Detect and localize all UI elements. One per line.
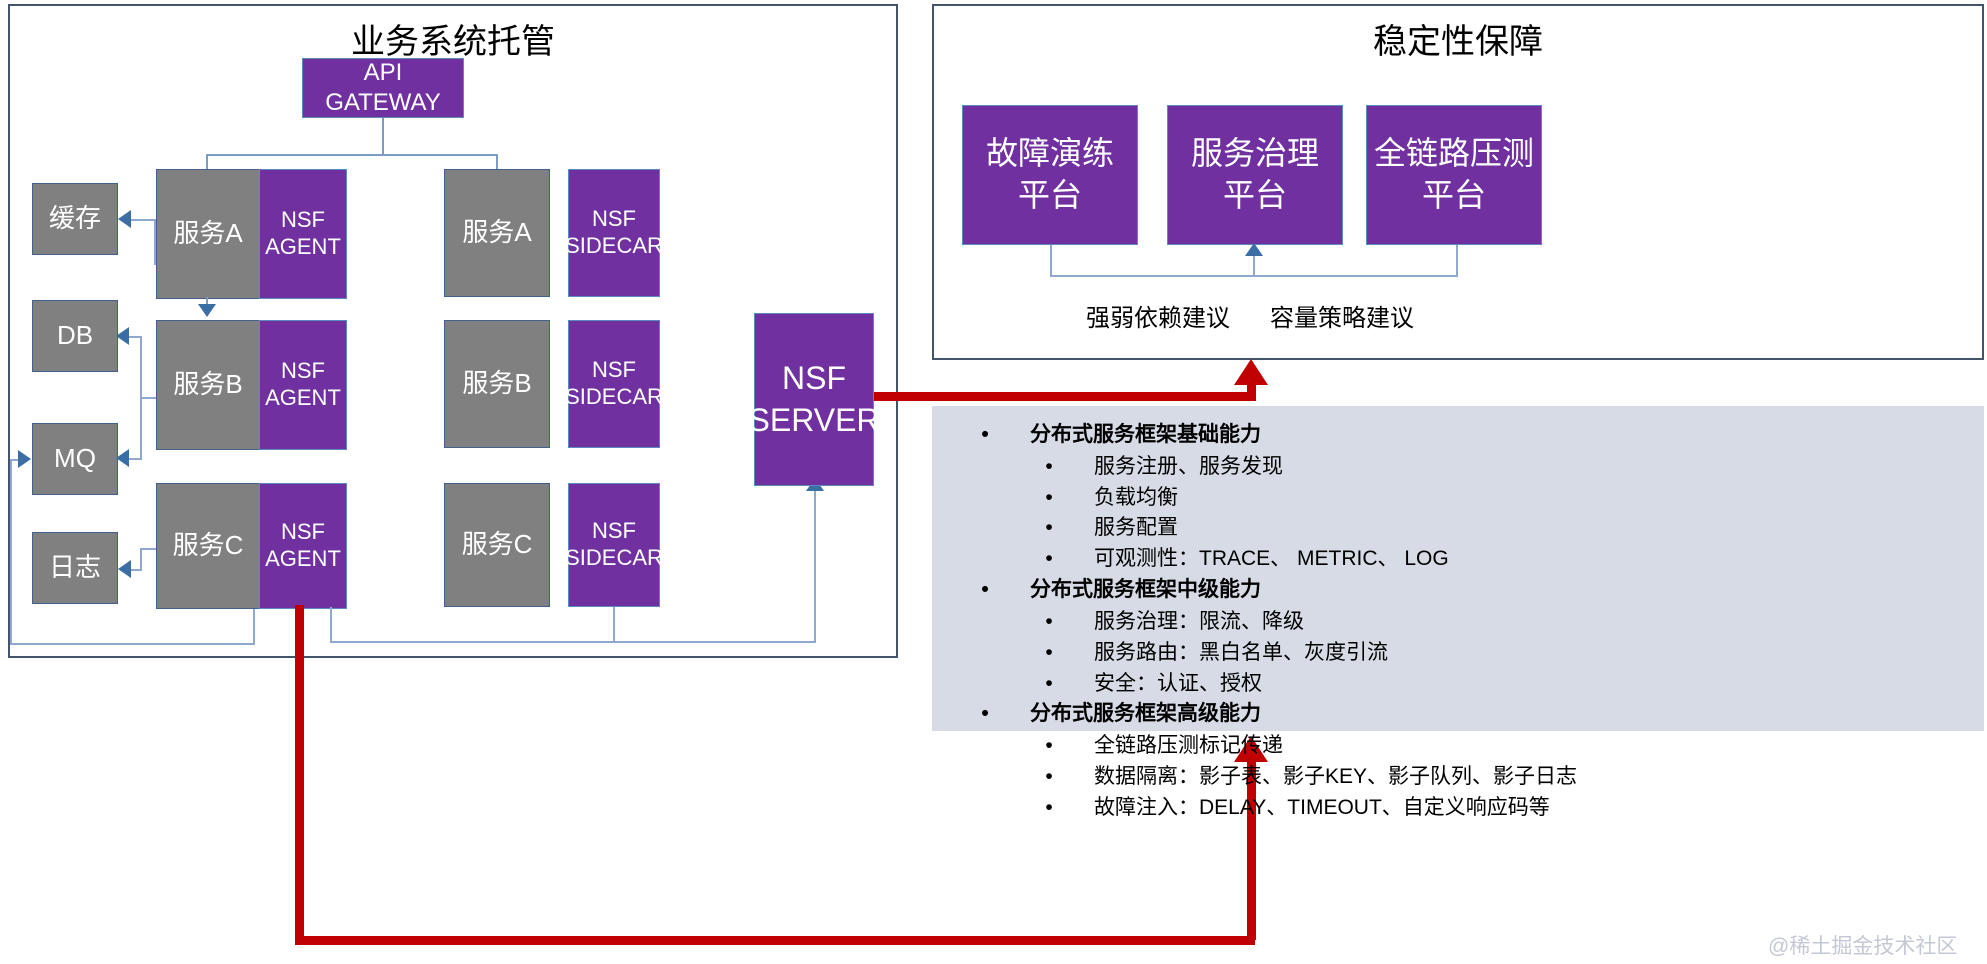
- infra-box-mq[interactable]: MQ: [32, 423, 118, 495]
- connector-bus-to-nsf-server: [814, 486, 816, 643]
- connector-stress-drop: [1456, 245, 1458, 277]
- capability-item: • 服务路由：黑白名单、灰度引流: [932, 638, 1984, 668]
- capability-item: • 负载均衡: [932, 483, 1984, 513]
- service-a-sidecar-service-box[interactable]: 服务A: [444, 169, 550, 297]
- capability-item-text: 服务治理：限流、降级: [1094, 607, 1304, 637]
- platform-box-fault-drill[interactable]: 故障演练 平台: [962, 105, 1138, 245]
- capability-item: • 故障注入：DELAY、TIMEOUT、自定义响应码等: [932, 793, 1984, 823]
- connector-serviceC-to-log-v: [140, 548, 142, 570]
- bullet-icon: •: [1042, 669, 1056, 699]
- arrow-to-mq: [116, 449, 129, 467]
- capability-item-text: 全链路压测标记传递: [1094, 731, 1283, 761]
- arrow-serviceA-to-serviceB: [198, 304, 216, 317]
- platform-box-full-link-stress[interactable]: 全链路压测 平台: [1366, 105, 1542, 245]
- capability-item: • 服务注册、服务发现: [932, 452, 1984, 482]
- capability-item-text: 可观测性：TRACE、 METRIC、 LOG: [1094, 544, 1449, 574]
- connector-loop-left-v: [10, 459, 12, 645]
- bullet-icon: •: [1042, 544, 1056, 574]
- arrow-red-into-stability-panel: [1234, 359, 1268, 385]
- bullet-icon: •: [1042, 638, 1056, 668]
- connector-gateway-stem: [382, 118, 384, 155]
- bullet-icon: •: [1042, 483, 1056, 513]
- watermark-text: @稀土掘金技术社区: [1768, 930, 1957, 960]
- nsf-sidecar-box-c[interactable]: NSF SIDECAR: [568, 483, 660, 607]
- service-c-sidecar-service-box[interactable]: 服务C: [444, 483, 550, 607]
- arrow-to-log: [118, 560, 131, 578]
- service-c-agent-group: 服务C NSF AGENT: [156, 483, 347, 609]
- capability-list-panel: • 分布式服务框架基础能力 • 服务注册、服务发现 • 负载均衡 • 服务配置 …: [932, 406, 1984, 731]
- capability-group-title: • 分布式服务框架高级能力: [932, 699, 1984, 729]
- capability-item-text: 数据隔离：影子表、影子KEY、影子队列、影子日志: [1094, 762, 1577, 792]
- connector-serviceA-to-cache-h: [128, 219, 156, 221]
- red-route-server-to-panel-h: [874, 392, 1256, 401]
- nsf-agent-box-c[interactable]: NSF AGENT: [259, 483, 347, 609]
- capability-group-title-text: 分布式服务框架基础能力: [1030, 420, 1261, 450]
- connector-sidecar-bus-h: [330, 641, 816, 643]
- api-gateway-box[interactable]: API GATEWAY: [302, 58, 464, 118]
- diagram-canvas: 业务系统托管 API GATEWAY 缓存 DB MQ 日志 服务A NSF A…: [0, 0, 1987, 964]
- capability-item: • 安全：认证、授权: [932, 669, 1984, 699]
- capability-group-title: • 分布式服务框架中级能力: [932, 575, 1984, 605]
- service-b-sidecar-service-box[interactable]: 服务B: [444, 320, 550, 448]
- red-route-agent-drop: [295, 605, 304, 945]
- capability-group-title-text: 分布式服务框架中级能力: [1030, 575, 1261, 605]
- service-a-agent-group: 服务A NSF AGENT: [156, 169, 347, 299]
- arrow-to-db: [116, 327, 129, 345]
- service-c-box[interactable]: 服务C: [156, 483, 259, 609]
- bullet-icon: •: [978, 575, 992, 605]
- infra-box-log[interactable]: 日志: [32, 532, 118, 604]
- bullet-icon: •: [1042, 607, 1056, 637]
- arrow-to-cache: [118, 210, 131, 228]
- annotation-strong-weak-dependency: 强弱依赖建议: [1086, 298, 1230, 333]
- connector-fault-drill-drop: [1050, 245, 1052, 277]
- bullet-icon: •: [978, 699, 992, 729]
- capability-item: • 服务配置: [932, 513, 1984, 543]
- infra-box-db[interactable]: DB: [32, 300, 118, 372]
- capability-item: • 服务治理：限流、降级: [932, 607, 1984, 637]
- capability-group-title-text: 分布式服务框架高级能力: [1030, 699, 1261, 729]
- connector-loop-riser: [253, 605, 255, 645]
- capability-item: • 全链路压测标记传递: [932, 731, 1984, 761]
- capability-item-text: 安全：认证、授权: [1094, 669, 1262, 699]
- nsf-sidecar-box-b[interactable]: NSF SIDECAR: [568, 320, 660, 448]
- left-panel-title: 业务系统托管: [8, 14, 898, 63]
- right-panel-title: 稳定性保障: [932, 14, 1984, 63]
- capability-group-title: • 分布式服务框架基础能力: [932, 420, 1984, 450]
- capability-item: • 数据隔离：影子表、影子KEY、影子队列、影子日志: [932, 762, 1984, 792]
- capability-item-text: 故障注入：DELAY、TIMEOUT、自定义响应码等: [1094, 793, 1550, 823]
- capability-item-text: 服务路由：黑白名单、灰度引流: [1094, 638, 1388, 668]
- capability-item-text: 负载均衡: [1094, 483, 1178, 513]
- bullet-icon: •: [1042, 513, 1056, 543]
- connector-gateway-bus: [206, 154, 498, 156]
- connector-governance-riser: [1253, 255, 1255, 276]
- nsf-agent-box-a[interactable]: NSF AGENT: [259, 169, 347, 299]
- infra-box-cache[interactable]: 缓存: [32, 183, 118, 255]
- service-b-agent-group: 服务B NSF AGENT: [156, 320, 347, 450]
- annotation-capacity-strategy: 容量策略建议: [1270, 298, 1414, 333]
- nsf-agent-box-b[interactable]: NSF AGENT: [259, 320, 347, 450]
- capability-item-text: 服务注册、服务发现: [1094, 452, 1283, 482]
- red-route-server-to-panel-v: [1247, 383, 1256, 397]
- bullet-icon: •: [1042, 731, 1056, 761]
- connector-loop-bottom-h: [10, 643, 255, 645]
- platform-box-service-governance[interactable]: 服务治理 平台: [1167, 105, 1343, 245]
- capability-item-text: 服务配置: [1094, 513, 1178, 543]
- service-b-box[interactable]: 服务B: [156, 320, 259, 450]
- arrow-into-mq: [18, 450, 31, 468]
- nsf-sidecar-box-a[interactable]: NSF SIDECAR: [568, 169, 660, 297]
- bullet-icon: •: [1042, 452, 1056, 482]
- nsf-server-box[interactable]: NSF SERVER: [754, 313, 874, 486]
- service-a-box[interactable]: 服务A: [156, 169, 259, 299]
- bullet-icon: •: [978, 420, 992, 450]
- connector-sidecarC-drop: [613, 607, 615, 643]
- bullet-icon: •: [1042, 793, 1056, 823]
- capability-item: • 可观测性：TRACE、 METRIC、 LOG: [932, 544, 1984, 574]
- arrow-to-service-governance: [1245, 243, 1263, 256]
- bullet-icon: •: [1042, 762, 1056, 792]
- red-route-bottom-h: [295, 936, 1255, 945]
- connector-agentC-drop: [330, 607, 332, 643]
